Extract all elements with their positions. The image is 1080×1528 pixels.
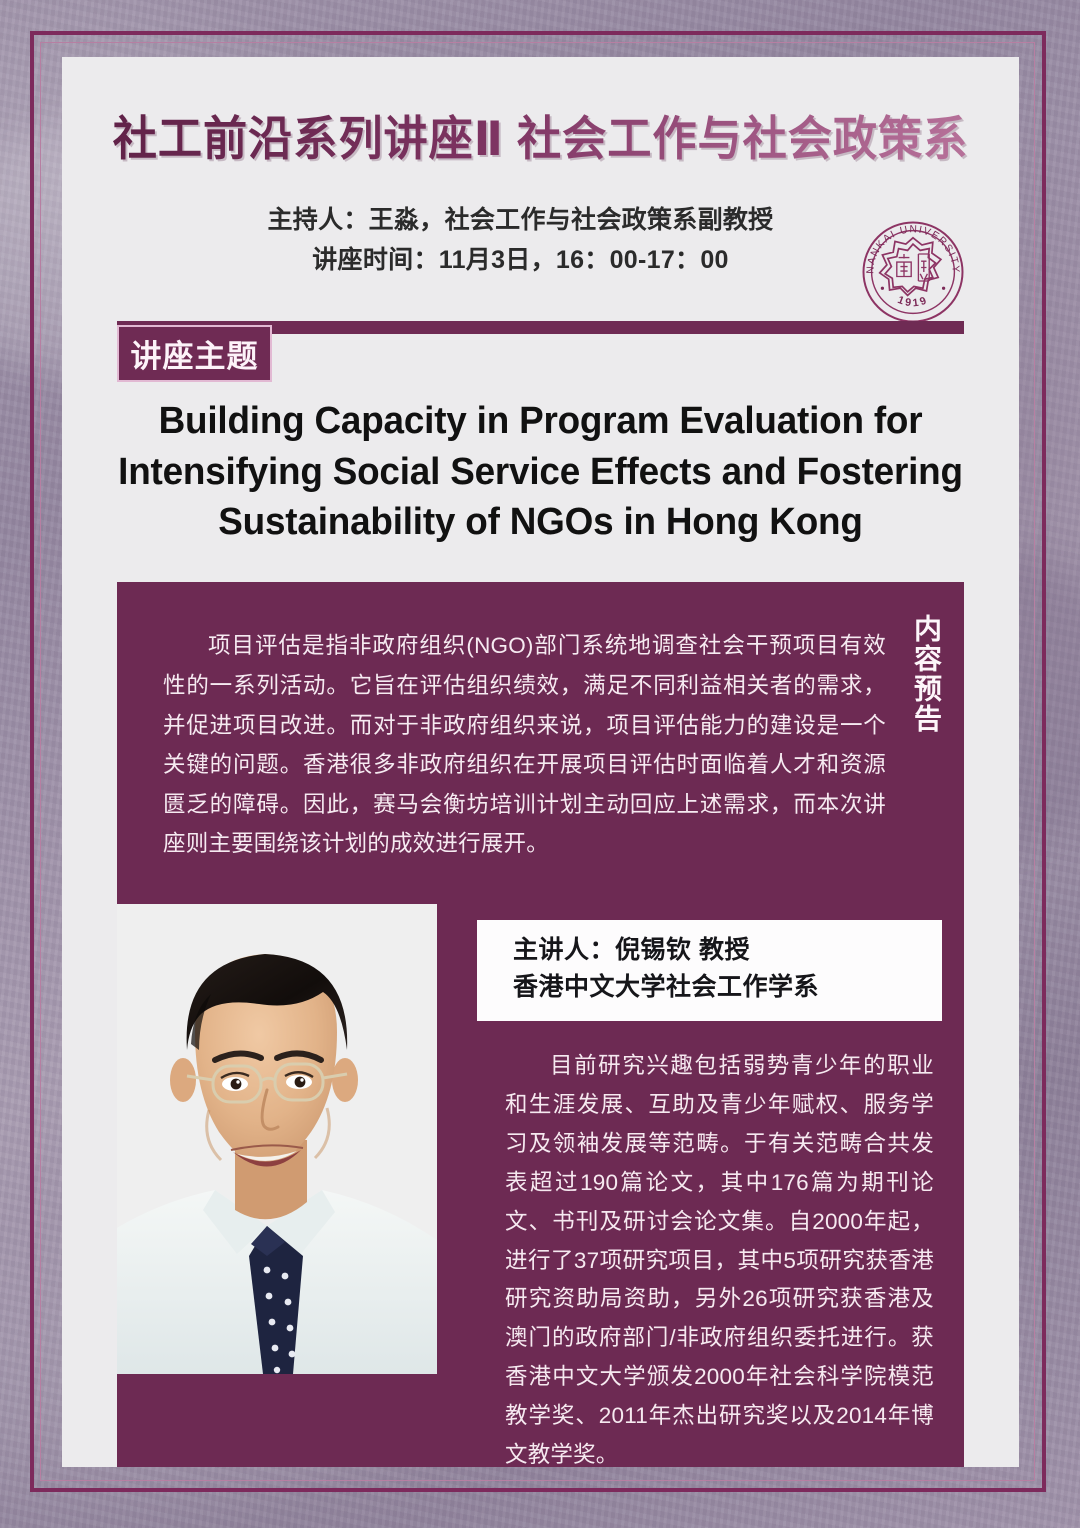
speaker-affiliation: 香港中文大学社会工作学系 [513,969,942,1007]
speaker-photo [117,904,467,1374]
host-line: 主持人：王淼，社会工作与社会政策系副教授 [62,200,979,241]
abstract-vertical-label: 内容预告 [904,614,948,734]
lecture-title-english: Building Capacity in Program Evaluation … [76,321,1004,549]
svg-text:NANKAI UNIVERSITY: NANKAI UNIVERSITY [865,224,961,274]
speaker-name-plate: 主讲人：倪锡钦 教授 香港中文大学社会工作学系 [477,920,942,1021]
page-title: 社工前沿系列讲座Ⅱ 社会工作与社会政策系 [91,113,991,166]
poster-card: 社工前沿系列讲座Ⅱ 社会工作与社会政策系 主持人：王淼，社会工作与社会政策系副教… [62,57,1019,1467]
speaker-name: 主讲人：倪锡钦 教授 [513,932,942,970]
time-line: 讲座时间：11月3日，16：00-17：00 [62,240,979,281]
topic-section: 讲座主题 Building Capacity in Program Evalua… [62,321,1019,549]
abstract-block: 项目评估是指非政府组织(NGO)部门系统地调查社会干预项目有效性的一系列活动。它… [117,582,964,904]
speaker-section: 主讲人：倪锡钦 教授 香港中文大学社会工作学系 目前研究兴趣包括弱势青少年的职业… [117,904,964,1467]
abstract-body: 项目评估是指非政府组织(NGO)部门系统地调查社会干预项目有效性的一系列活动。它… [163,626,886,864]
nankai-university-seal-icon: NANKAI UNIVERSITY 1919 [859,218,967,326]
speaker-bio: 目前研究兴趣包括弱势青少年的职业和生涯发展、互助及青少年赋权、服务学习及领袖发展… [477,1021,942,1467]
svg-text:1919: 1919 [896,294,930,309]
speaker-info: 主讲人：倪锡钦 教授 香港中文大学社会工作学系 目前研究兴趣包括弱势青少年的职业… [467,904,964,1467]
